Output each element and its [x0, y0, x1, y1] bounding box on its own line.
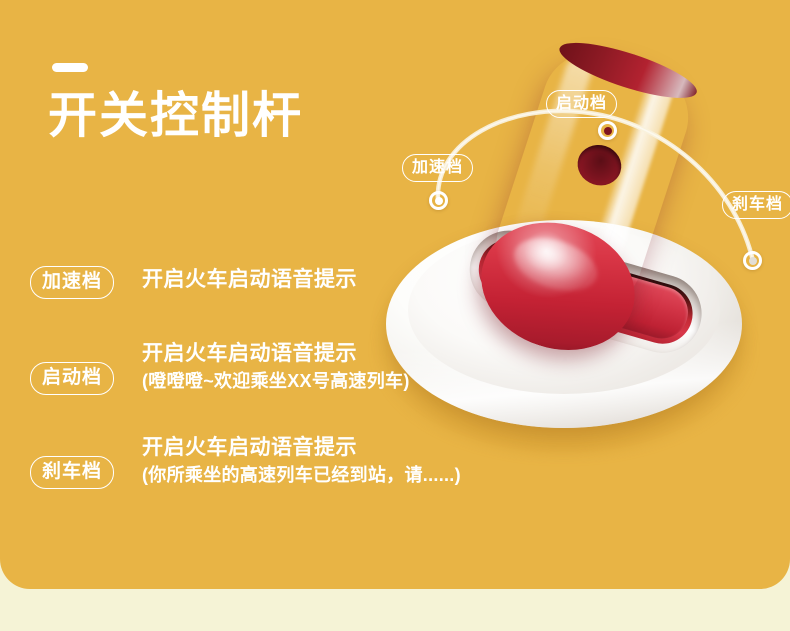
feature-main-text: 开启火车启动语音提示: [142, 340, 500, 368]
gear-label-accelerate: 加速档: [30, 266, 114, 299]
list-item: 加速档 开启火车启动语音提示: [30, 262, 500, 302]
callout-brake: 刹车档: [722, 191, 790, 219]
feature-text-group: 开启火车启动语音提示: [142, 262, 500, 294]
orange-panel: 开关控制杆: [0, 0, 790, 589]
product-infographic: 开关控制杆: [0, 0, 790, 631]
feature-main-text: 开启火车启动语音提示: [142, 434, 500, 462]
list-item: 刹车档 开启火车启动语音提示 (你所乘坐的高速列车已经到站，请......): [30, 434, 500, 504]
list-item: 启动档 开启火车启动语音提示 (噔噔噔~欢迎乘坐XX号高速列车): [30, 340, 500, 410]
callout-accelerate: 加速档: [402, 154, 473, 182]
feature-sub-text: (噔噔噔~欢迎乘坐XX号高速列车): [142, 368, 500, 394]
callout-start: 启动档: [546, 90, 617, 118]
feature-text-group: 开启火车启动语音提示 (噔噔噔~欢迎乘坐XX号高速列车): [142, 340, 500, 394]
gear-marker-brake[interactable]: [743, 251, 762, 270]
gear-label-start: 启动档: [30, 362, 114, 395]
feature-sub-text: (你所乘坐的高速列车已经到站，请......): [142, 462, 500, 488]
page-title: 开关控制杆: [48, 88, 303, 144]
gear-marker-accelerate[interactable]: [429, 191, 448, 210]
product-illustration: 加速档 启动档 刹车档: [330, 20, 790, 500]
feature-text-group: 开启火车启动语音提示 (你所乘坐的高速列车已经到站，请......): [142, 434, 500, 488]
gear-marker-start[interactable]: [598, 121, 617, 140]
feature-main-text: 开启火车启动语音提示: [142, 266, 500, 294]
title-dash-accent: [52, 63, 88, 72]
gear-label-brake: 刹车档: [30, 456, 114, 489]
